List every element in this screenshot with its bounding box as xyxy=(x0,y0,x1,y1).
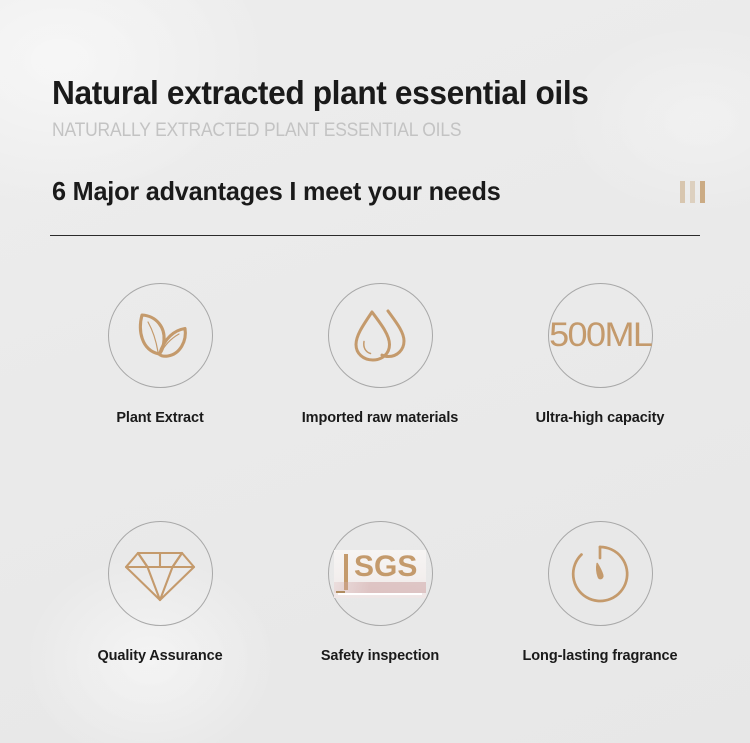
section-heading: 6 Major advantages I meet your needs xyxy=(52,176,501,207)
stopwatch-icon xyxy=(568,542,632,606)
sgs-band xyxy=(334,582,426,593)
feature-grid: Plant Extract Imported raw materials 500… xyxy=(50,283,710,664)
leaves-icon xyxy=(129,306,191,366)
section-heading-row: 6 Major advantages I meet your needs xyxy=(52,176,707,207)
feature-icon-circle: SGS xyxy=(328,521,433,626)
feature-label: Imported raw materials xyxy=(302,410,459,426)
page-subtitle: NATURALLY EXTRACTED PLANT ESSENTIAL OILS xyxy=(52,120,659,142)
feature-label: Ultra-high capacity xyxy=(536,410,665,426)
accent-bars-icon xyxy=(680,181,705,203)
product-feature-banner: Natural extracted plant essential oils N… xyxy=(0,0,750,743)
feature-label: Safety inspection xyxy=(321,648,439,664)
feature-label: Plant Extract xyxy=(116,410,203,426)
diamond-icon xyxy=(125,545,195,603)
page-title: Natural extracted plant essential oils xyxy=(52,74,686,113)
sgs-underline xyxy=(338,593,422,595)
feature-item-long-lasting-fragrance: Long-lasting fragrance xyxy=(490,521,710,664)
feature-icon-circle: 500ML xyxy=(548,283,653,388)
header-block: Natural extracted plant essential oils N… xyxy=(52,74,712,142)
feature-icon-circle xyxy=(108,283,213,388)
feature-icon-circle xyxy=(328,283,433,388)
feature-icon-circle xyxy=(548,521,653,626)
feature-label: Quality Assurance xyxy=(97,648,222,664)
sgs-tick xyxy=(336,591,345,593)
sgs-logo-icon: SGS xyxy=(334,550,426,598)
feature-label: Long-lasting fragrance xyxy=(523,648,678,664)
volume-500ml-icon: 500ML xyxy=(549,316,651,355)
feature-item-safety-inspection: SGS Safety inspection xyxy=(270,521,490,664)
feature-icon-circle xyxy=(108,521,213,626)
sgs-wordmark: SGS xyxy=(354,550,417,584)
feature-item-ultra-high-capacity: 500ML Ultra-high capacity xyxy=(490,283,710,426)
droplets-icon xyxy=(350,305,410,367)
horizontal-divider xyxy=(50,235,700,236)
feature-item-quality-assurance: Quality Assurance xyxy=(50,521,270,664)
feature-item-imported-raw-materials: Imported raw materials xyxy=(270,283,490,426)
feature-item-plant-extract: Plant Extract xyxy=(50,283,270,426)
